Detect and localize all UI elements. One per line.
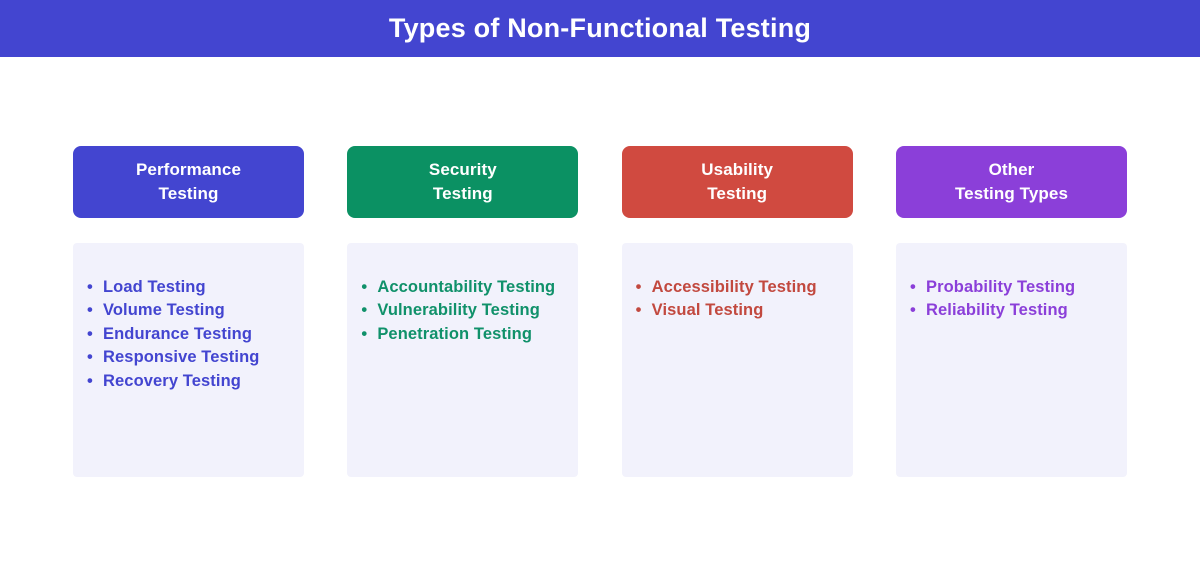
list-item-label: Volume Testing	[103, 299, 290, 322]
category-body-usability-testing: • Accessibility Testing • Visual Testing	[622, 243, 853, 477]
list-item[interactable]: • Visual Testing	[636, 299, 839, 322]
category-header-usability-testing[interactable]: Usability Testing	[622, 146, 853, 218]
category-body-performance-testing: • Load Testing • Volume Testing • Endura…	[73, 243, 304, 477]
bullet-icon: •	[910, 276, 926, 299]
bullet-icon: •	[361, 323, 377, 346]
list-item-label: Probability Testing	[926, 276, 1113, 299]
list-item-label: Vulnerability Testing	[377, 299, 564, 322]
list-item[interactable]: • Probability Testing	[910, 276, 1113, 299]
category-title: Performance Testing	[136, 158, 241, 206]
category-column-usability-testing: Usability Testing • Accessibility Testin…	[622, 146, 853, 477]
bullet-icon: •	[636, 299, 652, 322]
bullet-icon: •	[87, 323, 103, 346]
item-list: • Accountability Testing • Vulnerability…	[361, 276, 564, 346]
category-columns: Performance Testing • Load Testing • Vol…	[73, 146, 1127, 477]
bullet-icon: •	[87, 299, 103, 322]
category-column-other-testing-types: Other Testing Types • Probability Testin…	[896, 146, 1127, 477]
list-item[interactable]: • Recovery Testing	[87, 370, 290, 393]
bullet-icon: •	[87, 346, 103, 369]
bullet-icon: •	[910, 299, 926, 322]
bullet-icon: •	[636, 276, 652, 299]
category-column-performance-testing: Performance Testing • Load Testing • Vol…	[73, 146, 304, 477]
category-column-security-testing: Security Testing • Accountability Testin…	[347, 146, 578, 477]
list-item[interactable]: • Accessibility Testing	[636, 276, 839, 299]
category-title: Usability Testing	[701, 158, 773, 206]
list-item[interactable]: • Vulnerability Testing	[361, 299, 564, 322]
bullet-icon: •	[361, 299, 377, 322]
category-header-security-testing[interactable]: Security Testing	[347, 146, 578, 218]
infographic-page: Types of Non-Functional Testing Performa…	[0, 0, 1200, 575]
category-title: Security Testing	[429, 158, 497, 206]
page-title: Types of Non-Functional Testing	[389, 15, 811, 42]
category-header-other-testing-types[interactable]: Other Testing Types	[896, 146, 1127, 218]
list-item[interactable]: • Endurance Testing	[87, 323, 290, 346]
list-item[interactable]: • Load Testing	[87, 276, 290, 299]
category-body-other-testing-types: • Probability Testing • Reliability Test…	[896, 243, 1127, 477]
list-item[interactable]: • Penetration Testing	[361, 323, 564, 346]
category-title: Other Testing Types	[955, 158, 1068, 206]
item-list: • Probability Testing • Reliability Test…	[910, 276, 1113, 323]
list-item[interactable]: • Accountability Testing	[361, 276, 564, 299]
header-bar: Types of Non-Functional Testing	[0, 0, 1200, 57]
list-item-label: Reliability Testing	[926, 299, 1113, 322]
bullet-icon: •	[87, 276, 103, 299]
bullet-icon: •	[361, 276, 377, 299]
category-body-security-testing: • Accountability Testing • Vulnerability…	[347, 243, 578, 477]
list-item-label: Accessibility Testing	[652, 276, 839, 299]
list-item-label: Penetration Testing	[377, 323, 564, 346]
item-list: • Accessibility Testing • Visual Testing	[636, 276, 839, 323]
list-item-label: Recovery Testing	[103, 370, 290, 393]
category-header-performance-testing[interactable]: Performance Testing	[73, 146, 304, 218]
bullet-icon: •	[87, 370, 103, 393]
list-item-label: Accountability Testing	[377, 276, 564, 299]
list-item[interactable]: • Reliability Testing	[910, 299, 1113, 322]
list-item-label: Visual Testing	[652, 299, 839, 322]
item-list: • Load Testing • Volume Testing • Endura…	[87, 276, 290, 393]
list-item[interactable]: • Responsive Testing	[87, 346, 290, 369]
list-item-label: Endurance Testing	[103, 323, 290, 346]
list-item-label: Responsive Testing	[103, 346, 290, 369]
list-item[interactable]: • Volume Testing	[87, 299, 290, 322]
list-item-label: Load Testing	[103, 276, 290, 299]
